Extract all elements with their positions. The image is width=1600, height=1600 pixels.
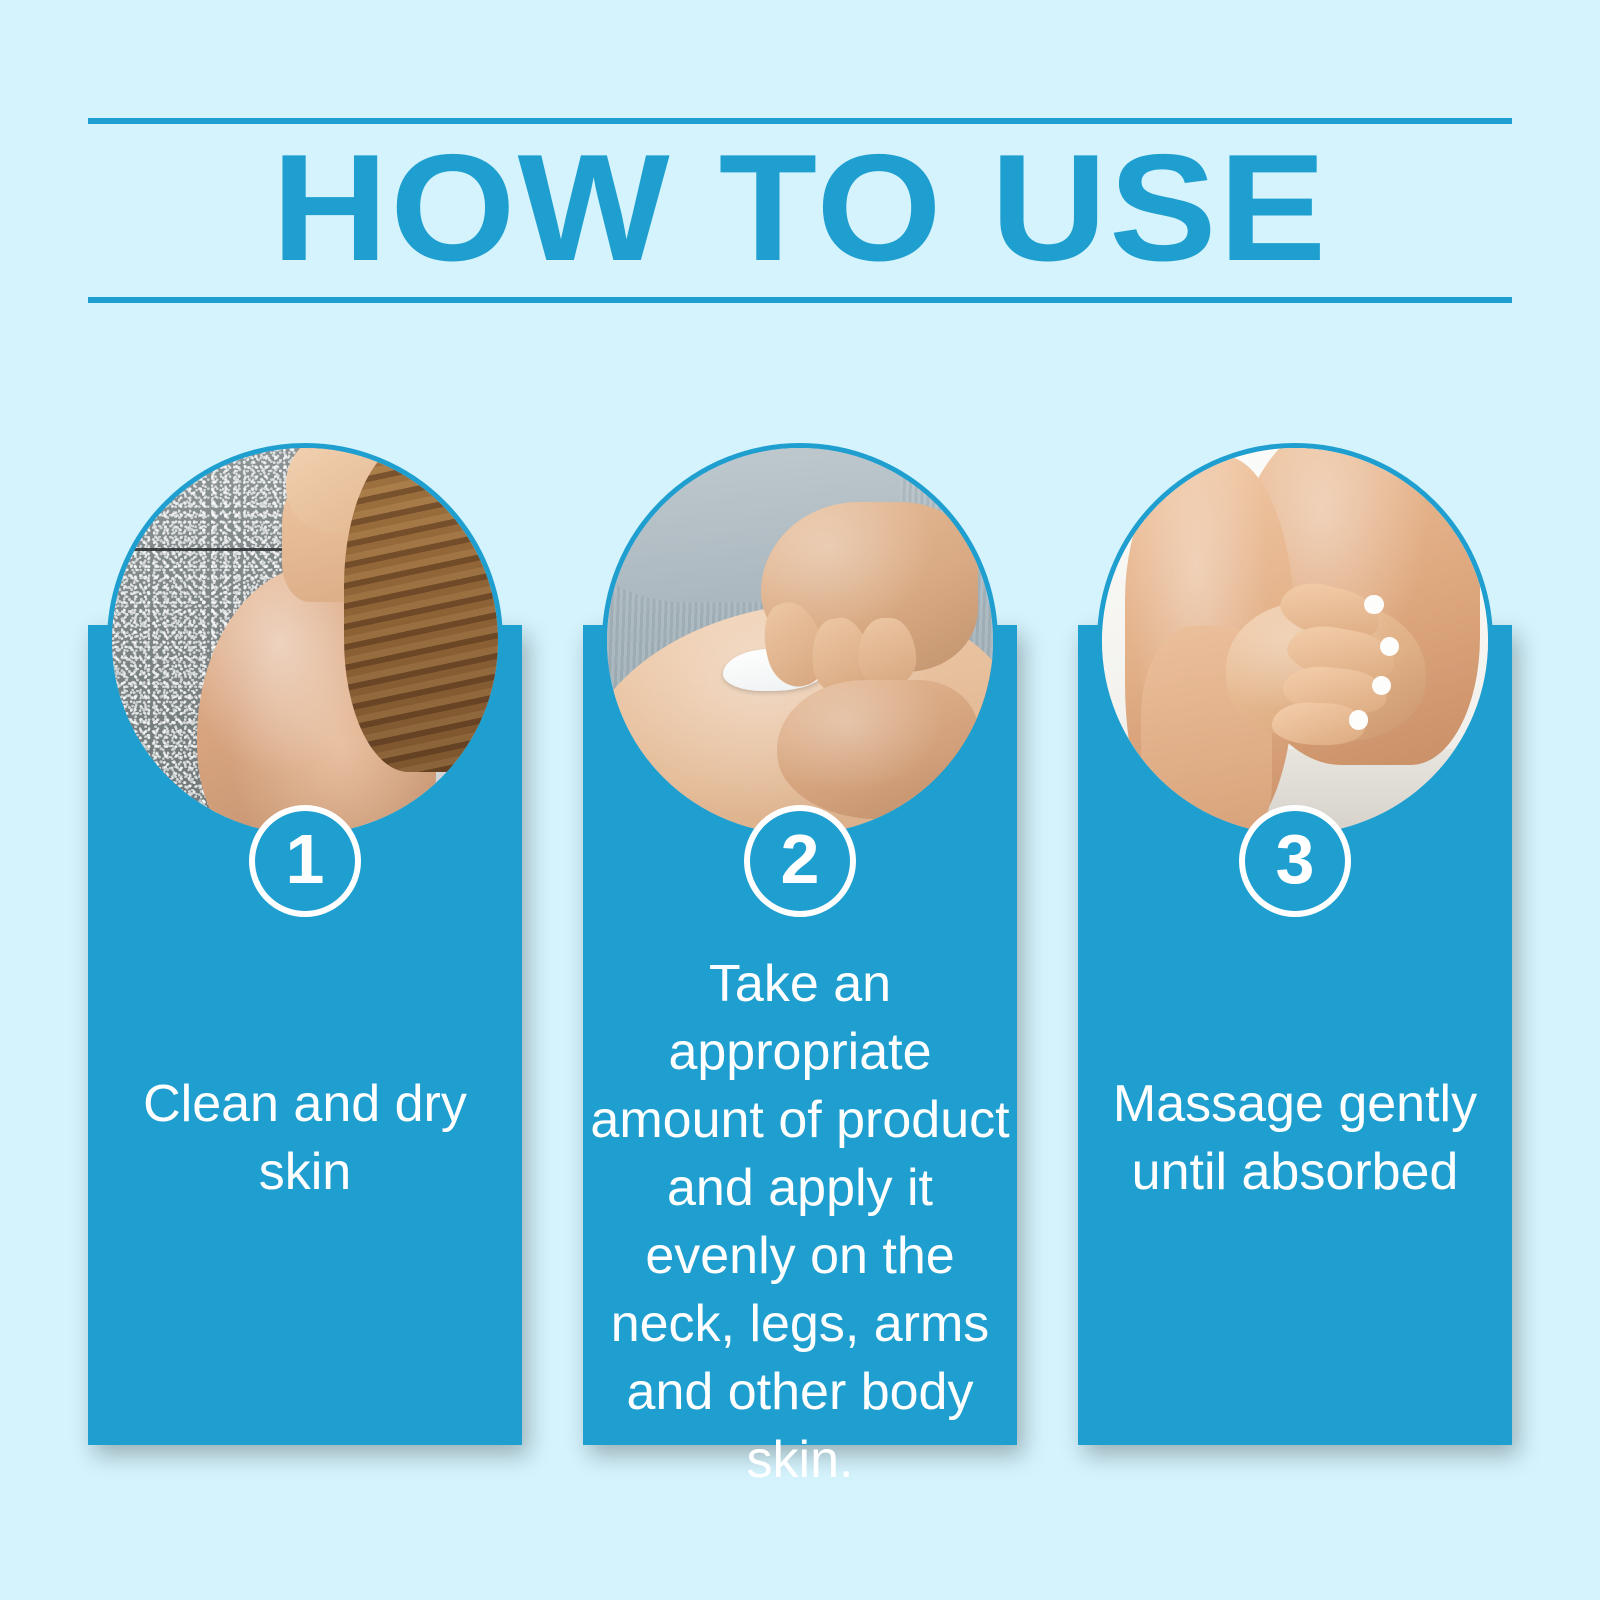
step-card-2[interactable]: 2 Take an appropriate amount of product … <box>583 430 1017 1445</box>
step-badge-2: 2 <box>744 805 856 917</box>
header-rule-bottom <box>88 297 1512 303</box>
step-card-1[interactable]: 1 Clean and dry skin <box>88 430 522 1445</box>
step-photo-2 <box>602 443 998 839</box>
step-badge-3: 3 <box>1239 805 1351 917</box>
step-number-1: 1 <box>286 824 325 894</box>
step-badge-1: 1 <box>249 805 361 917</box>
lower-hand <box>777 680 978 819</box>
step-caption-2: Take an appropriate amount of product an… <box>583 950 1017 1494</box>
woman-wet-hair <box>344 448 498 772</box>
page-title: HOW TO USE <box>45 132 1554 284</box>
step-photo-1 <box>107 443 503 839</box>
step-number-3: 3 <box>1276 824 1315 894</box>
step-caption-1: Clean and dry skin <box>88 1070 522 1206</box>
step-number-2: 2 <box>781 824 820 894</box>
steps-container: 1 Clean and dry skin 2 Take an appropr <box>88 430 1512 1450</box>
step-photo-3 <box>1097 443 1493 839</box>
step-caption-3: Massage gently until absorbed <box>1078 1070 1512 1206</box>
fingernail-1 <box>1364 595 1383 614</box>
step-card-3[interactable]: 3 Massage gently until absorbed <box>1078 430 1512 1445</box>
fingernail-4 <box>1349 710 1368 729</box>
page-header: HOW TO USE <box>88 110 1512 310</box>
